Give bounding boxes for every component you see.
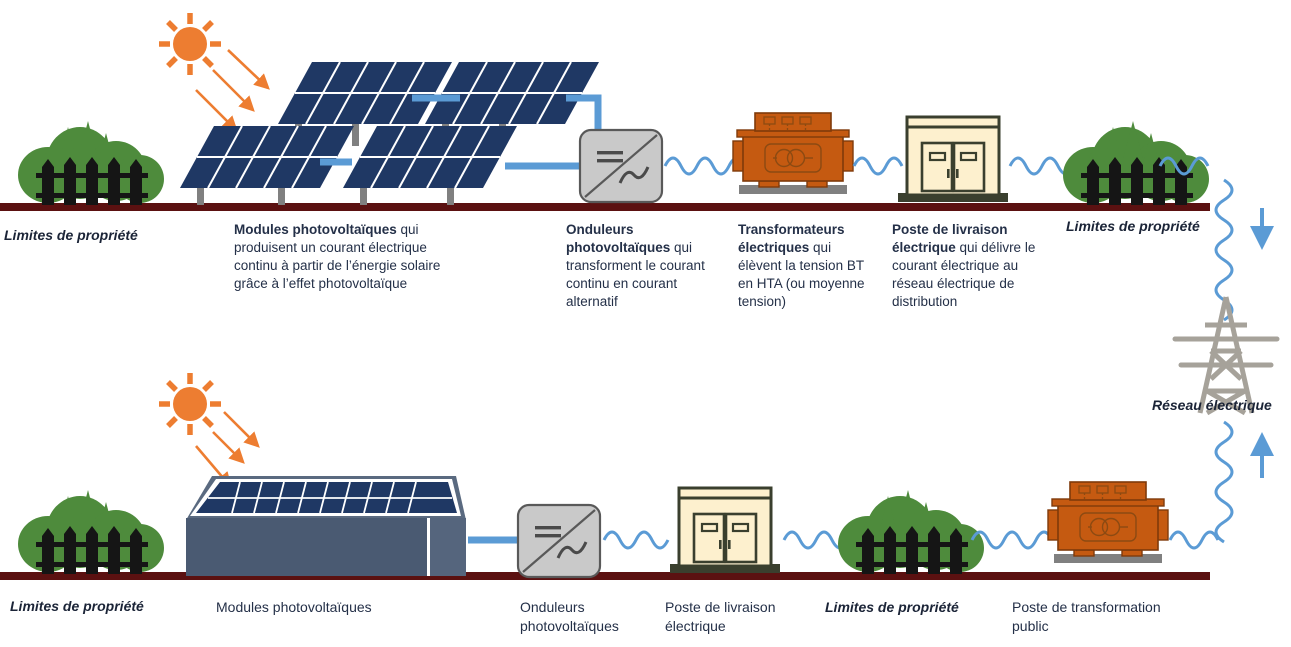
property-bush-fence-top-left xyxy=(18,121,164,205)
caption-transformateurs: Transformateurs électriques qui élèvent … xyxy=(738,221,878,311)
ground-line-top xyxy=(0,203,1210,211)
caption-onduleurs-bold: Onduleurs photovoltaïques xyxy=(566,222,670,255)
sun-icon-bottom xyxy=(159,373,221,435)
caption-modules-pv: Modules photovoltaïques qui produisent u… xyxy=(234,221,449,293)
caption-onduleurs: Onduleurs photovoltaïques qui transforme… xyxy=(566,221,721,311)
inverter-bottom xyxy=(518,505,600,577)
caption-poste-livraison: Poste de livraison électrique qui délivr… xyxy=(892,221,1050,311)
pylon-icon xyxy=(1175,297,1277,413)
public-transformer-bottom xyxy=(1048,482,1168,563)
bottom-label-onduleurs: Onduleurs photovoltaïques xyxy=(520,598,640,636)
ac-wave-top-2 xyxy=(854,158,902,174)
pv-panel-top-back-1 xyxy=(278,62,452,124)
bottom-label-poste-transformation: Poste de transformation public xyxy=(1012,598,1197,636)
delivery-station-top xyxy=(898,117,1008,202)
property-bush-fence-bottom-left xyxy=(18,490,164,574)
pv-panel-top-front-1 xyxy=(180,126,354,188)
ground-line-bottom xyxy=(0,572,1210,580)
property-label-top-left: Limites de propriété xyxy=(4,227,138,243)
bottom-label-poste-livraison: Poste de livraison électrique xyxy=(665,598,800,636)
pv-panel-top-front-2 xyxy=(343,126,517,188)
inverter-top xyxy=(580,130,662,202)
ac-wave-bottom-4 xyxy=(1170,532,1218,548)
property-label-top-right: Limites de propriété xyxy=(1066,218,1200,234)
grid-wave-vertical-bottom xyxy=(1216,422,1232,542)
sun-icon-top xyxy=(159,13,221,75)
ac-wave-bottom-3 xyxy=(972,532,1052,548)
bottom-label-property-right: Limites de propriété xyxy=(825,599,959,615)
delivery-station-bottom xyxy=(670,488,780,573)
caption-modules-pv-bold: Modules photovoltaïques xyxy=(234,222,397,237)
pv-panel-legs-top-front xyxy=(197,188,454,205)
grid-label: Réseau électrique xyxy=(1152,397,1272,413)
ac-wave-bottom-1 xyxy=(604,532,668,548)
building-with-pv xyxy=(186,476,466,576)
property-bush-fence-top-right xyxy=(1063,121,1209,205)
diagram-canvas: Limites de propriété Limites de propriét… xyxy=(0,0,1291,647)
diagram-graphics xyxy=(0,0,1291,647)
transformer-top xyxy=(733,113,853,194)
bottom-label-modules-pv: Modules photovoltaïques xyxy=(216,598,446,617)
pv-panel-top-back-2 xyxy=(425,62,599,124)
bottom-label-property-left: Limites de propriété xyxy=(10,598,144,614)
property-bush-fence-bottom-right xyxy=(838,490,984,574)
